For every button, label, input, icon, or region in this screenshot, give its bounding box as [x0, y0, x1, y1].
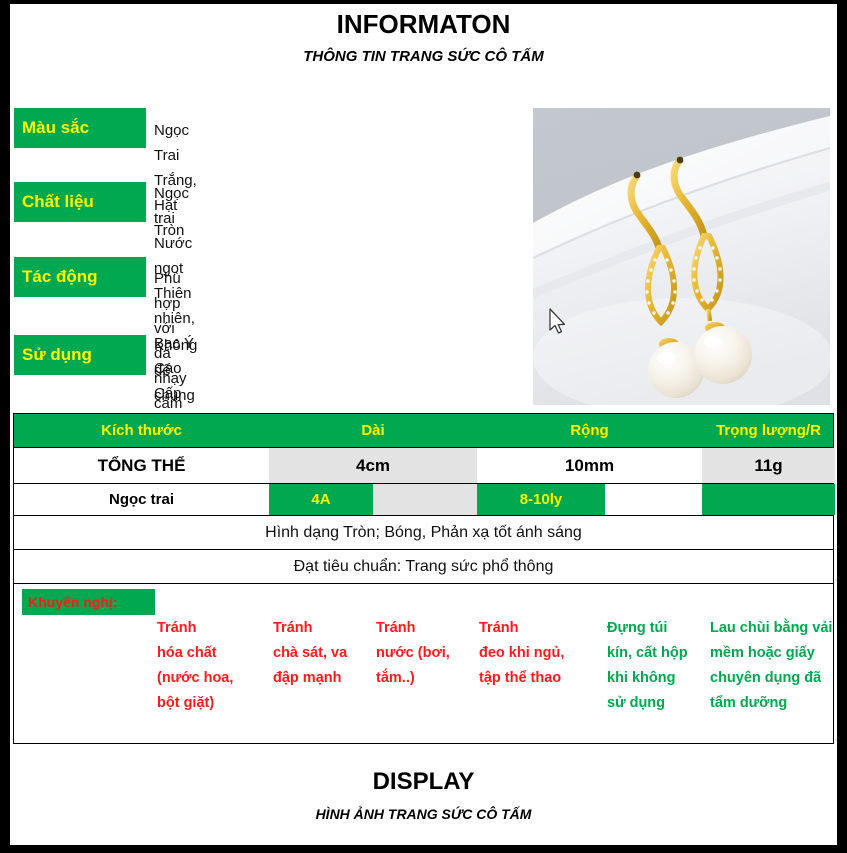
recommendation-item-sleep-sport: Tránh đeo khi ngủ, tập thể thao [479, 616, 591, 691]
cell-pearl-weight [702, 484, 835, 515]
recommendation-item-storage: Đựng túi kín, cất hộp khi không sử dụng [607, 616, 707, 716]
infographic-page: INFORMATON THÔNG TIN TRANG SỨC CÔ TẤM Mà… [0, 0, 847, 853]
table-row: Ngọc trai 4A 8-10ly [14, 484, 833, 516]
table-header-width: Rộng [477, 414, 702, 447]
product-photo [533, 108, 830, 405]
recommendation-item-cleaning: Lau chùi bằng vải mềm hoặc giấy chuyên d… [710, 616, 836, 716]
table-note-shape: Hình dạng Tròn; Bóng, Phản xạ tốt ánh sá… [14, 516, 833, 550]
table-header-row: Kích thước Dài Rộng Trọng lượng/R [14, 414, 833, 448]
recommendation-block: Khuyến nghị: Tránh hóa chất (nước hoa, b… [14, 584, 833, 743]
spec-table: Kích thước Dài Rộng Trọng lượng/R TỔNG T… [13, 413, 834, 744]
recommendation-item-water: Tránh nước (bơi, tắm..) [376, 616, 476, 691]
table-header-size: Kích thước [14, 414, 269, 447]
table-row: TỔNG THỂ 4cm 10mm 11g [14, 448, 833, 484]
spec-label-color: Màu sắc [14, 108, 146, 148]
footer-title: DISPLAY [10, 768, 837, 796]
page-subtitle: THÔNG TIN TRANG SỨC CÔ TẤM [10, 48, 837, 65]
footer-subtitle: HÌNH ẢNH TRANG SỨC CÔ TẤM [10, 806, 837, 822]
recommendation-badge: Khuyến nghị: [22, 589, 155, 615]
cell-overall-weight: 11g [702, 448, 835, 483]
cell-overall-name: TỔNG THỂ [14, 448, 269, 483]
cell-pearl-grade: 4A [269, 484, 373, 515]
cell-overall-length: 4cm [269, 448, 477, 483]
table-note-standard: Đạt tiêu chuẩn: Trang sức phổ thông [14, 550, 833, 584]
spec-label-material: Chất liệu [14, 182, 146, 222]
content-canvas: INFORMATON THÔNG TIN TRANG SỨC CÔ TẤM Mà… [10, 4, 837, 845]
cell-pearl-width-grade: 8-10ly [477, 484, 605, 515]
spec-label-effect: Tác động [14, 257, 146, 297]
table-header-weight: Trọng lượng/R [702, 414, 835, 447]
spec-label-usage: Sử dụng [14, 335, 146, 375]
cell-overall-width: 10mm [477, 448, 702, 483]
cell-pearl-length-extra [373, 484, 477, 515]
cell-pearl-name: Ngọc trai [14, 484, 269, 515]
recommendation-item-chemicals: Tránh hóa chất (nước hoa, bột giặt) [157, 616, 269, 716]
table-header-length: Dài [269, 414, 477, 447]
cell-pearl-width-extra [605, 484, 702, 515]
page-title: INFORMATON [10, 9, 837, 40]
recommendation-item-abrasion: Tránh chà sát, va đập mạnh [273, 616, 373, 691]
